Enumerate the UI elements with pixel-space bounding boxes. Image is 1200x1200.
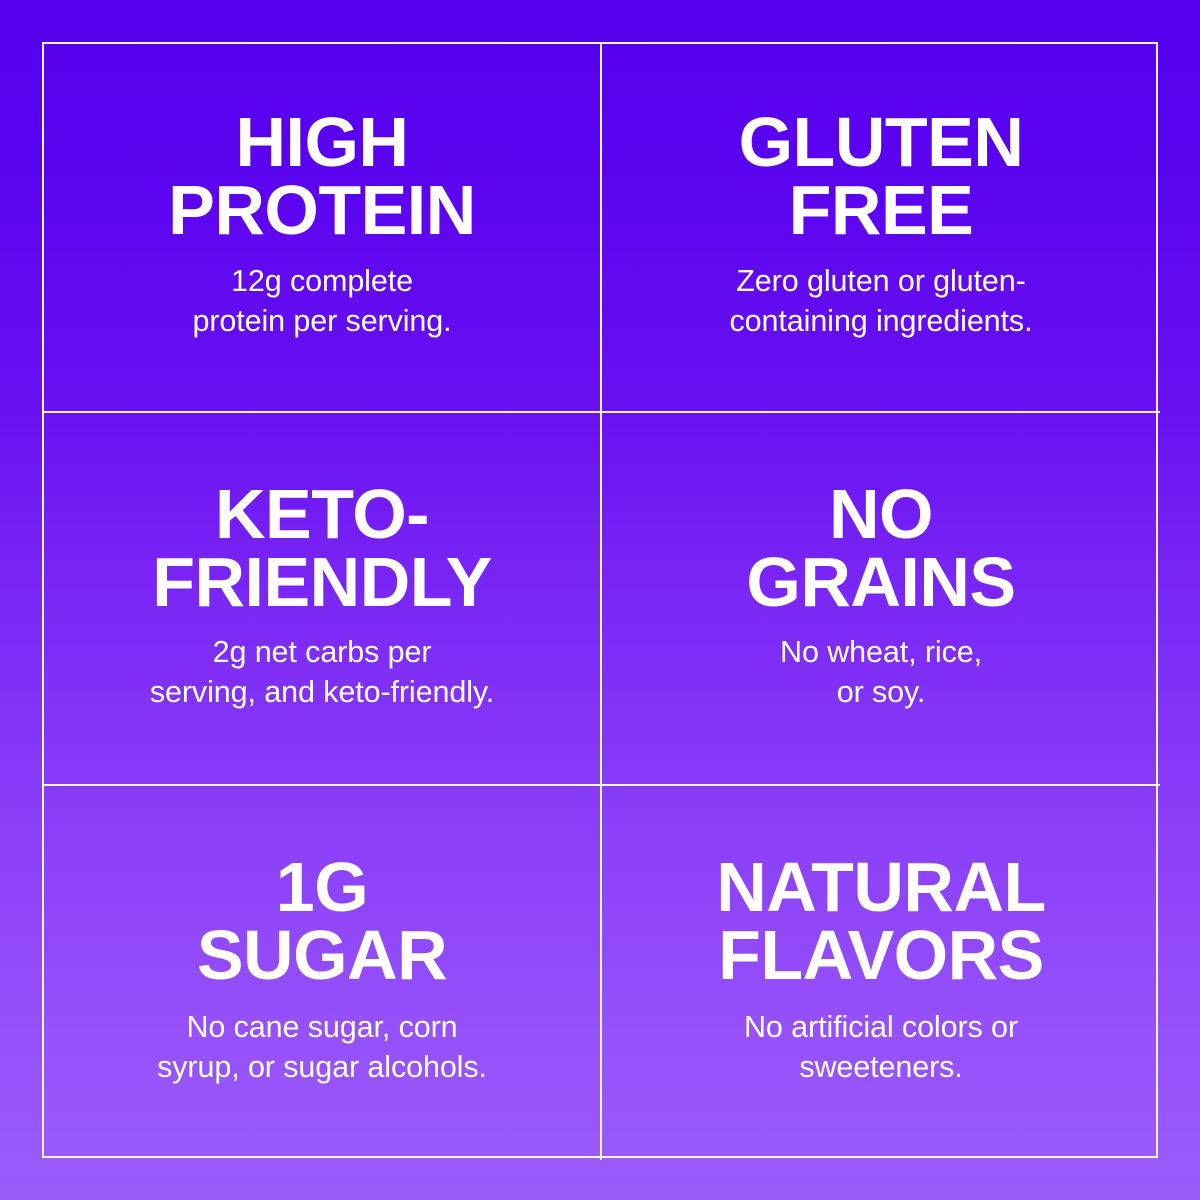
benefit-heading-line: 1g [197,853,447,921]
benefits-infographic: HIGH PROTEIN 12g complete protein per se… [0,0,1200,1200]
benefit-heading-one-gram-sugar: 1g SUGAR [197,853,447,989]
benefit-cell-keto-friendly: KETO- FRIENDLY 2g net carbs per serving,… [44,413,602,786]
benefit-heading-keto-friendly: KETO- FRIENDLY [152,480,492,616]
benefit-subtitle-line: protein per serving. [192,301,451,341]
benefit-heading-gluten-free: GLUTEN FREE [739,108,1024,244]
benefit-cell-gluten-free: GLUTEN FREE Zero gluten or gluten- conta… [602,44,1160,413]
benefit-subtitle-line: 2g net carbs per [150,632,494,672]
benefit-heading-high-protein: HIGH PROTEIN [168,108,476,244]
benefit-heading-line: NO [746,480,1015,548]
benefit-grid: HIGH PROTEIN 12g complete protein per se… [42,42,1158,1158]
benefit-heading-line: NATURAL [716,853,1046,921]
benefit-heading-line: GLUTEN [739,108,1024,176]
benefit-subtitle-line: No artificial colors or [744,1007,1018,1047]
benefit-subtitle-line: No wheat, rice, [780,632,982,672]
benefit-heading-line: HIGH [168,108,476,176]
benefit-heading-line: SUGAR [197,921,447,989]
benefit-subtitle-natural-flavors: No artificial colors or sweeteners. [744,1007,1018,1087]
benefit-subtitle-no-grains: No wheat, rice, or soy. [780,632,982,712]
benefit-heading-line: PROTEIN [168,176,476,244]
benefit-heading-natural-flavors: NATURAL FLAVORS [716,853,1046,989]
benefit-subtitle-keto-friendly: 2g net carbs per serving, and keto-frien… [150,632,494,712]
benefit-cell-no-grains: NO GRAINS No wheat, rice, or soy. [602,413,1160,786]
benefit-subtitle-line: or soy. [780,672,982,712]
benefit-cell-natural-flavors: NATURAL FLAVORS No artificial colors or … [602,786,1160,1160]
benefit-cell-high-protein: HIGH PROTEIN 12g complete protein per se… [44,44,602,413]
benefit-subtitle-line: serving, and keto-friendly. [150,672,494,712]
benefit-subtitle-line: Zero gluten or gluten- [730,261,1033,301]
benefit-heading-line: FREE [739,176,1024,244]
benefit-subtitle-line: sweeteners. [744,1047,1018,1087]
benefit-subtitle-high-protein: 12g complete protein per serving. [192,261,451,341]
benefit-subtitle-line: 12g complete [192,261,451,301]
benefit-subtitle-line: containing ingredients. [730,301,1033,341]
benefit-cell-one-gram-sugar: 1g SUGAR No cane sugar, corn syrup, or s… [44,786,602,1160]
benefit-subtitle-line: syrup, or sugar alcohols. [157,1047,487,1087]
benefit-subtitle-one-gram-sugar: No cane sugar, corn syrup, or sugar alco… [157,1007,487,1087]
benefit-heading-line: GRAINS [746,548,1015,616]
benefit-subtitle-line: No cane sugar, corn [157,1007,487,1047]
benefit-heading-line: FRIENDLY [152,548,492,616]
benefit-heading-line: KETO- [152,480,492,548]
benefit-heading-no-grains: NO GRAINS [746,480,1015,616]
benefit-subtitle-gluten-free: Zero gluten or gluten- containing ingred… [730,261,1033,341]
benefit-heading-line: FLAVORS [716,921,1046,989]
